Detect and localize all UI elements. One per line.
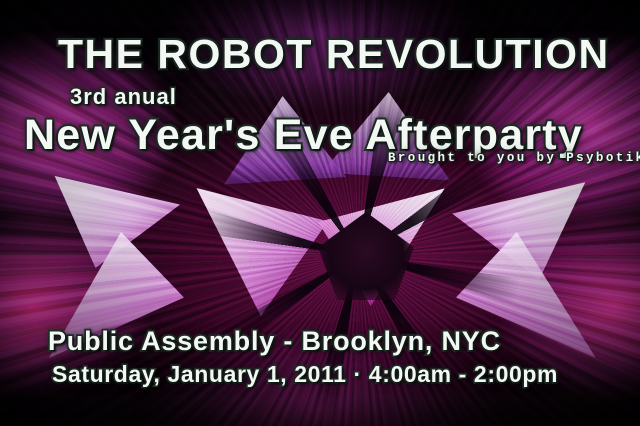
event-flyer: THE ROBOT REVOLUTION 3rd anual New Year'… <box>0 0 640 426</box>
flyer-datetime: Saturday, January 1, 2011 · 4:00am - 2:0… <box>52 363 558 386</box>
flyer-edition-label: 3rd anual <box>70 86 177 108</box>
flyer-headline: THE ROBOT REVOLUTION <box>58 34 610 75</box>
flyer-credit-line: Brought to you by Psybotik <box>388 152 640 165</box>
flyer-venue: Public Assembly - Brooklyn, NYC <box>48 328 501 355</box>
flyer-text-layer: THE ROBOT REVOLUTION 3rd anual New Year'… <box>0 0 640 426</box>
